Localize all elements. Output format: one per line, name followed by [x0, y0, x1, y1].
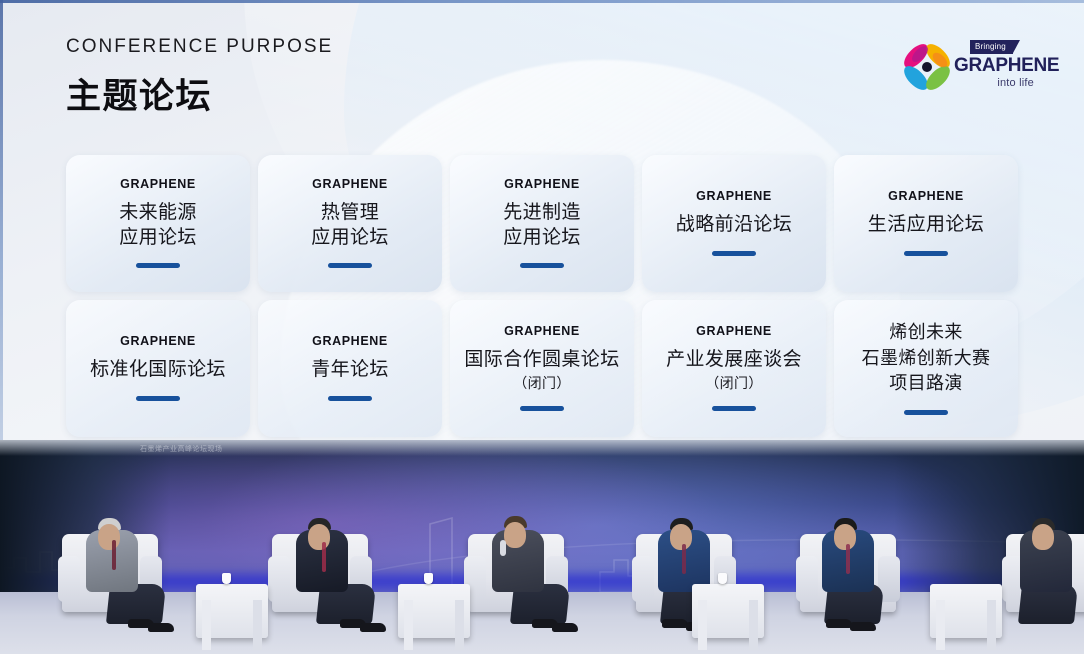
speaker-lanyard [682, 544, 686, 574]
speaker-head [670, 524, 692, 550]
forum-card-grid: GRAPHENE 未来能源 应用论坛 GRAPHENE 热管理 应用论坛 GRA… [66, 155, 1018, 437]
photo-top-fade [0, 440, 1084, 456]
forum-card[interactable]: GRAPHENE 热管理 应用论坛 [258, 155, 442, 292]
card-title: 国际合作圆桌论坛 [464, 347, 619, 372]
card-accent-bar [136, 263, 180, 268]
graphene-logo: Bringing GRAPHENE into life [898, 32, 1030, 102]
card-kicker: GRAPHENE [504, 324, 580, 338]
forum-card[interactable]: GRAPHENE 先进制造 应用论坛 [450, 155, 634, 292]
card-kicker: GRAPHENE [696, 324, 772, 338]
forum-card[interactable]: GRAPHENE 未来能源 应用论坛 [66, 155, 250, 292]
logo-wordmark: GRAPHENE [954, 56, 1034, 76]
card-subtitle: （闭门） [705, 373, 763, 393]
card-accent-bar [712, 251, 756, 256]
eyebrow-label: CONFERENCE PURPOSE [66, 36, 333, 58]
card-kicker: GRAPHENE [696, 189, 772, 203]
coffee-cup [222, 573, 231, 584]
card-kicker: GRAPHENE [312, 177, 388, 191]
card-title: 热管理 应用论坛 [311, 200, 389, 251]
side-table [196, 584, 268, 638]
side-table [398, 584, 470, 638]
speaker-head [98, 524, 120, 550]
logo-badge-bringing: Bringing [970, 40, 1013, 54]
card-title: 先进制造 应用论坛 [503, 200, 581, 251]
forum-card[interactable]: 烯创未来 石墨烯创新大赛 项目路演 [834, 300, 1018, 437]
graphene-pinwheel-icon [898, 38, 956, 96]
speaker-head [834, 524, 856, 550]
card-accent-bar [712, 406, 756, 411]
conference-photo: 石墨烯产业高峰论坛现场 [0, 440, 1084, 654]
coffee-cup [424, 573, 433, 584]
forum-card[interactable]: GRAPHENE 国际合作圆桌论坛 （闭门） [450, 300, 634, 437]
card-title: 青年论坛 [311, 357, 389, 382]
card-title: 生活应用论坛 [868, 212, 984, 237]
background-top-rule [0, 0, 1084, 3]
card-title: 标准化国际论坛 [90, 357, 226, 382]
card-kicker: GRAPHENE [120, 177, 196, 191]
speaker-lanyard [322, 542, 326, 572]
card-accent-bar [328, 396, 372, 401]
speaker-shoe [360, 623, 386, 632]
side-table [692, 584, 764, 638]
card-title: 战略前沿论坛 [676, 212, 792, 237]
card-kicker: GRAPHENE [504, 177, 580, 191]
logo-tagline: into life [954, 77, 1034, 89]
card-title: 烯创未来 石墨烯创新大赛 项目路演 [862, 320, 991, 397]
microphone-icon [500, 540, 506, 556]
logo-text-block: Bringing GRAPHENE into life [954, 36, 1034, 89]
card-title: 未来能源 应用论坛 [119, 200, 197, 251]
slide-header: CONFERENCE PURPOSE 主题论坛 [66, 36, 333, 119]
card-kicker: GRAPHENE [120, 334, 196, 348]
speaker-shoe [850, 622, 876, 631]
slide-root: CONFERENCE PURPOSE 主题论坛 Bringing GRAPHEN… [0, 0, 1084, 654]
card-accent-bar [328, 263, 372, 268]
speaker-head [308, 524, 330, 550]
card-accent-bar [904, 410, 948, 415]
forum-card[interactable]: GRAPHENE 产业发展座谈会 （闭门） [642, 300, 826, 437]
speaker-shoe [662, 619, 688, 628]
speaker-shoe [552, 623, 578, 632]
speaker-lanyard [112, 540, 116, 570]
card-subtitle: （闭门） [513, 373, 571, 393]
card-accent-bar [136, 396, 180, 401]
speaker-head [1032, 524, 1054, 550]
page-title: 主题论坛 [66, 68, 333, 119]
card-kicker: GRAPHENE [888, 189, 964, 203]
card-kicker: GRAPHENE [312, 334, 388, 348]
card-accent-bar [520, 406, 564, 411]
coffee-cup [718, 573, 727, 584]
card-accent-bar [904, 251, 948, 256]
card-title: 产业发展座谈会 [666, 347, 802, 372]
forum-card[interactable]: GRAPHENE 标准化国际论坛 [66, 300, 250, 437]
speaker-shoe [148, 623, 174, 632]
card-accent-bar [520, 263, 564, 268]
speaker-lanyard [846, 544, 850, 574]
speaker-shoe [826, 619, 852, 628]
forum-card[interactable]: GRAPHENE 生活应用论坛 [834, 155, 1018, 292]
side-table [930, 584, 1002, 638]
forum-card[interactable]: GRAPHENE 青年论坛 [258, 300, 442, 437]
speaker-head [504, 522, 526, 548]
forum-card[interactable]: GRAPHENE 战略前沿论坛 [642, 155, 826, 292]
